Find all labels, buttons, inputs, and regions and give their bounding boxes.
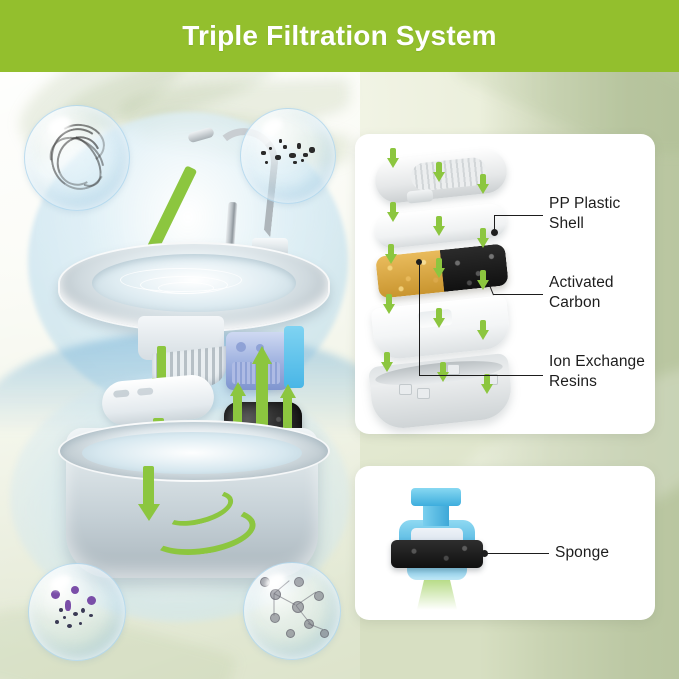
label-ion-exchange-resins: Ion Exchange Resins — [549, 352, 645, 392]
infographic-canvas: Triple Filtration System — [0, 0, 679, 679]
hair-bubble — [24, 105, 130, 211]
label-line-2: Resins — [549, 372, 645, 392]
header-banner: Triple Filtration System — [0, 0, 679, 72]
sponge-card: Sponge — [355, 466, 655, 620]
label-pp-plastic-shell: PP Plastic Shell — [549, 194, 620, 234]
page-title: Triple Filtration System — [182, 20, 496, 52]
molecule-bubble — [243, 562, 341, 660]
label-line-2: Shell — [549, 214, 620, 234]
molecule-icon — [244, 563, 340, 659]
leader-line-resins — [419, 375, 543, 376]
dirt-particles-icon — [241, 109, 335, 203]
label-sponge: Sponge — [555, 543, 609, 563]
bacteria-icon — [29, 564, 125, 660]
basin-water — [82, 432, 302, 474]
leader-line-pp-shell — [495, 215, 543, 216]
label-activated-carbon: Activated Carbon — [549, 273, 614, 313]
top-bowl-water — [92, 254, 296, 312]
hair-icon — [25, 106, 129, 210]
pump-top-connector — [411, 488, 461, 506]
pump-neck — [423, 504, 449, 526]
pump-blue-tab — [284, 326, 304, 388]
bacteria-bubble — [28, 563, 126, 661]
leader-line-sponge — [487, 553, 549, 554]
leader-riser-resins — [419, 262, 420, 376]
filter-layers-card: PP Plastic Shell Activated Carbon Ion Ex… — [355, 134, 655, 434]
pump-sponge-wrap — [391, 540, 483, 568]
leader-elbow-pp-shell — [494, 215, 495, 231]
pump-port-icon — [236, 342, 246, 352]
label-line-1: Activated — [549, 273, 614, 293]
label-line-2: Carbon — [549, 293, 614, 313]
faucet-tip-icon — [187, 127, 215, 144]
activated-carbon-media — [440, 243, 509, 292]
shell-clip-left — [399, 384, 412, 395]
leader-dot-resins — [416, 259, 422, 265]
leader-line-carbon — [493, 294, 543, 295]
dirt-bubble — [240, 108, 336, 204]
label-line-1: Ion Exchange — [549, 352, 645, 372]
lid-tab — [406, 189, 433, 204]
shell-clip-mid — [417, 388, 430, 399]
label-line-1: PP Plastic — [549, 194, 620, 214]
